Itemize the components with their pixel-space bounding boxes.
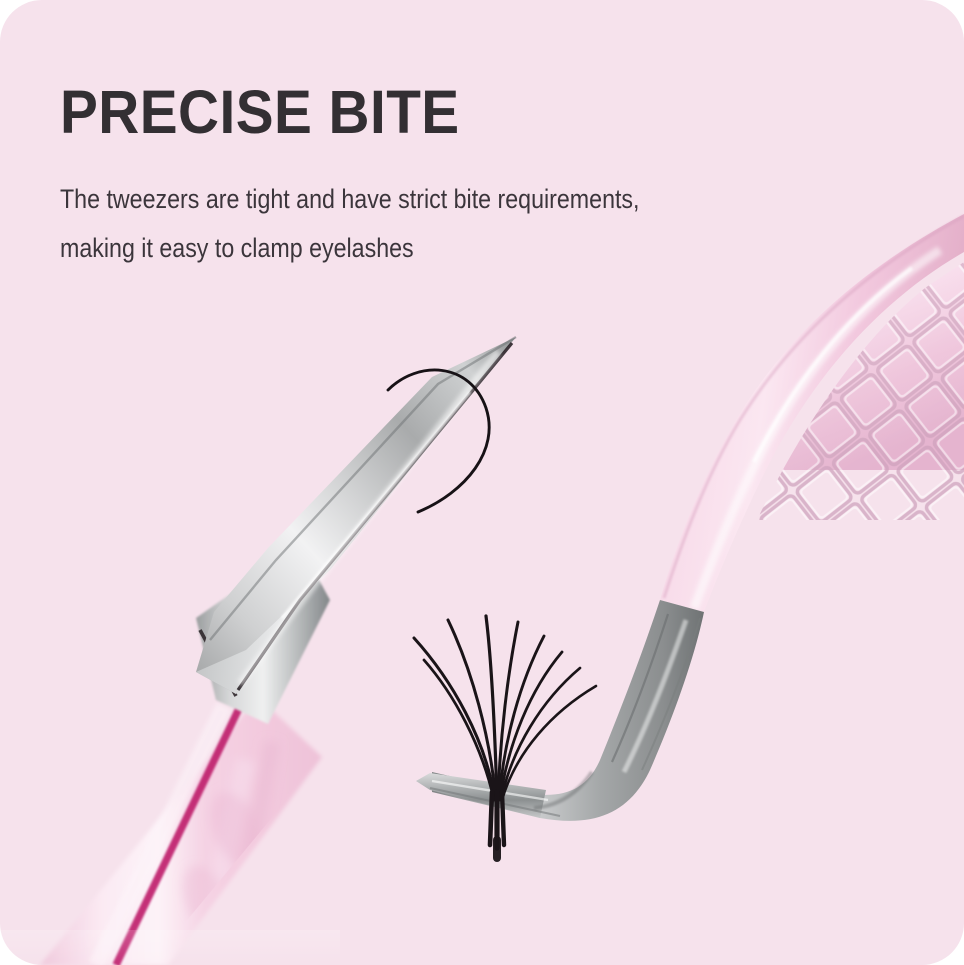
left-tweezer-arm bbox=[40, 337, 516, 965]
page-title: PRECISE BITE bbox=[60, 78, 804, 146]
feature-description-line-2: making it easy to clamp eyelashes bbox=[60, 224, 748, 273]
eyelash-fan bbox=[414, 616, 596, 858]
product-feature-card: PRECISE BITE The tweezers are tight and … bbox=[0, 0, 964, 965]
right-tweezer-arm bbox=[416, 214, 964, 821]
feature-text-block: PRECISE BITE The tweezers are tight and … bbox=[60, 78, 860, 273]
feature-description-line-1: The tweezers are tight and have strict b… bbox=[60, 175, 748, 224]
